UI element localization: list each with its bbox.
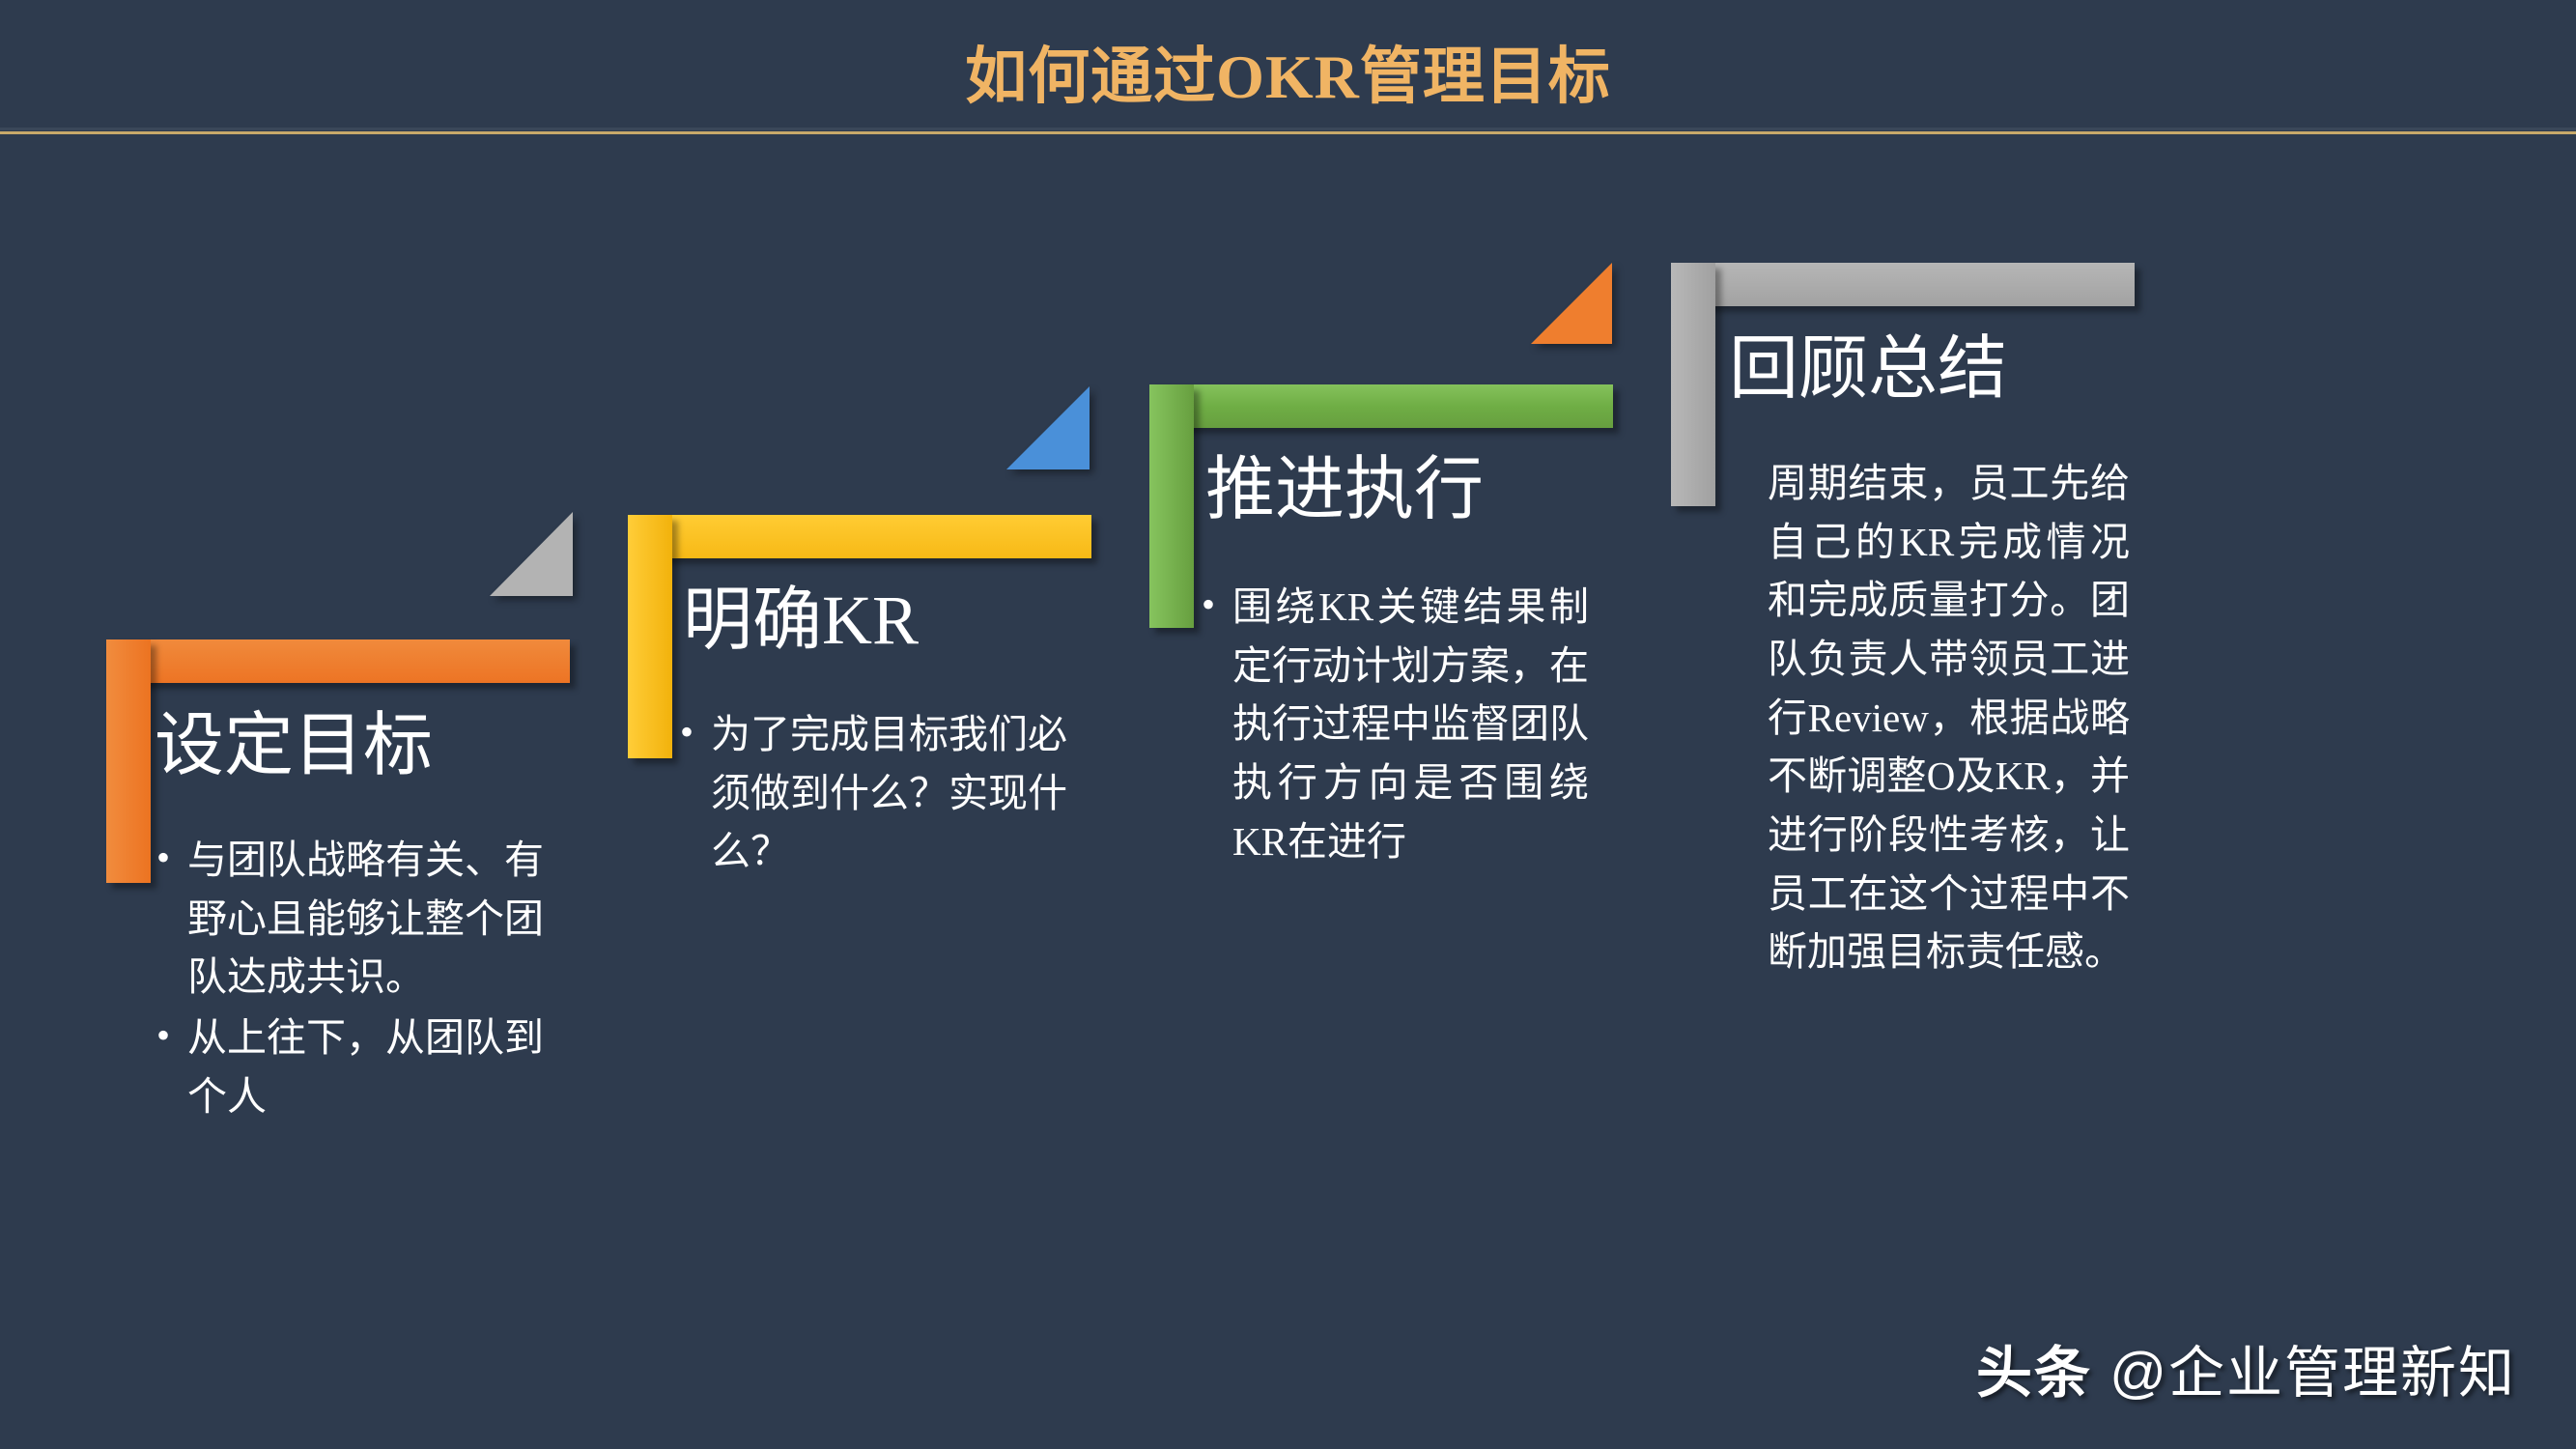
step-title-4: 回顾总结 xyxy=(1729,333,2007,407)
step-card-4[interactable]: 回顾总结 周期结束，员工先给自己的KR完成情况和完成质量打分。团队负责人带领员工… xyxy=(0,0,637,1256)
step-body-4: 周期结束，员工先给自己的KR完成情况和完成质量打分。团队负责人带领员工进行Rev… xyxy=(1768,454,2130,981)
step-bullet: 为了完成目标我们必须做到什么？实现什么？ xyxy=(676,705,1067,881)
step-bullet: 围绕KR关键结果制定行动计划方案，在执行过程中监督团队执行方向是否围绕KR在进行 xyxy=(1198,578,1589,870)
watermark: 头条 @企业管理新知 xyxy=(1976,1327,2516,1408)
step-title-2: 明确KR xyxy=(683,584,919,658)
step-title-3: 推进执行 xyxy=(1205,454,1484,527)
bracket-arm-horizontal-4 xyxy=(1671,263,2135,306)
bracket-arm-horizontal-3 xyxy=(1149,384,1613,428)
watermark-brand: 头条 xyxy=(1976,1342,2092,1405)
slide-canvas: 如何通过OKR管理目标 设定目标 与团队战略有关、有野心且能够让整个团队达成共识… xyxy=(0,0,2576,1449)
step-body-2: 为了完成目标我们必须做到什么？实现什么？ xyxy=(676,705,1067,883)
step-paragraph: 周期结束，员工先给自己的KR完成情况和完成质量打分。团队负责人带领员工进行Rev… xyxy=(1768,454,2130,981)
accent-triangle-icon-2 xyxy=(1006,386,1090,469)
bracket-arm-vertical-3 xyxy=(1149,384,1194,628)
accent-triangle-icon-3 xyxy=(1531,263,1612,344)
step-body-3: 围绕KR关键结果制定行动计划方案，在执行过程中监督团队执行方向是否围绕KR在进行 xyxy=(1198,578,1589,872)
bracket-arm-horizontal-2 xyxy=(628,515,1091,558)
watermark-handle: @企业管理新知 xyxy=(2109,1342,2516,1405)
bracket-arm-vertical-4 xyxy=(1671,263,1715,506)
